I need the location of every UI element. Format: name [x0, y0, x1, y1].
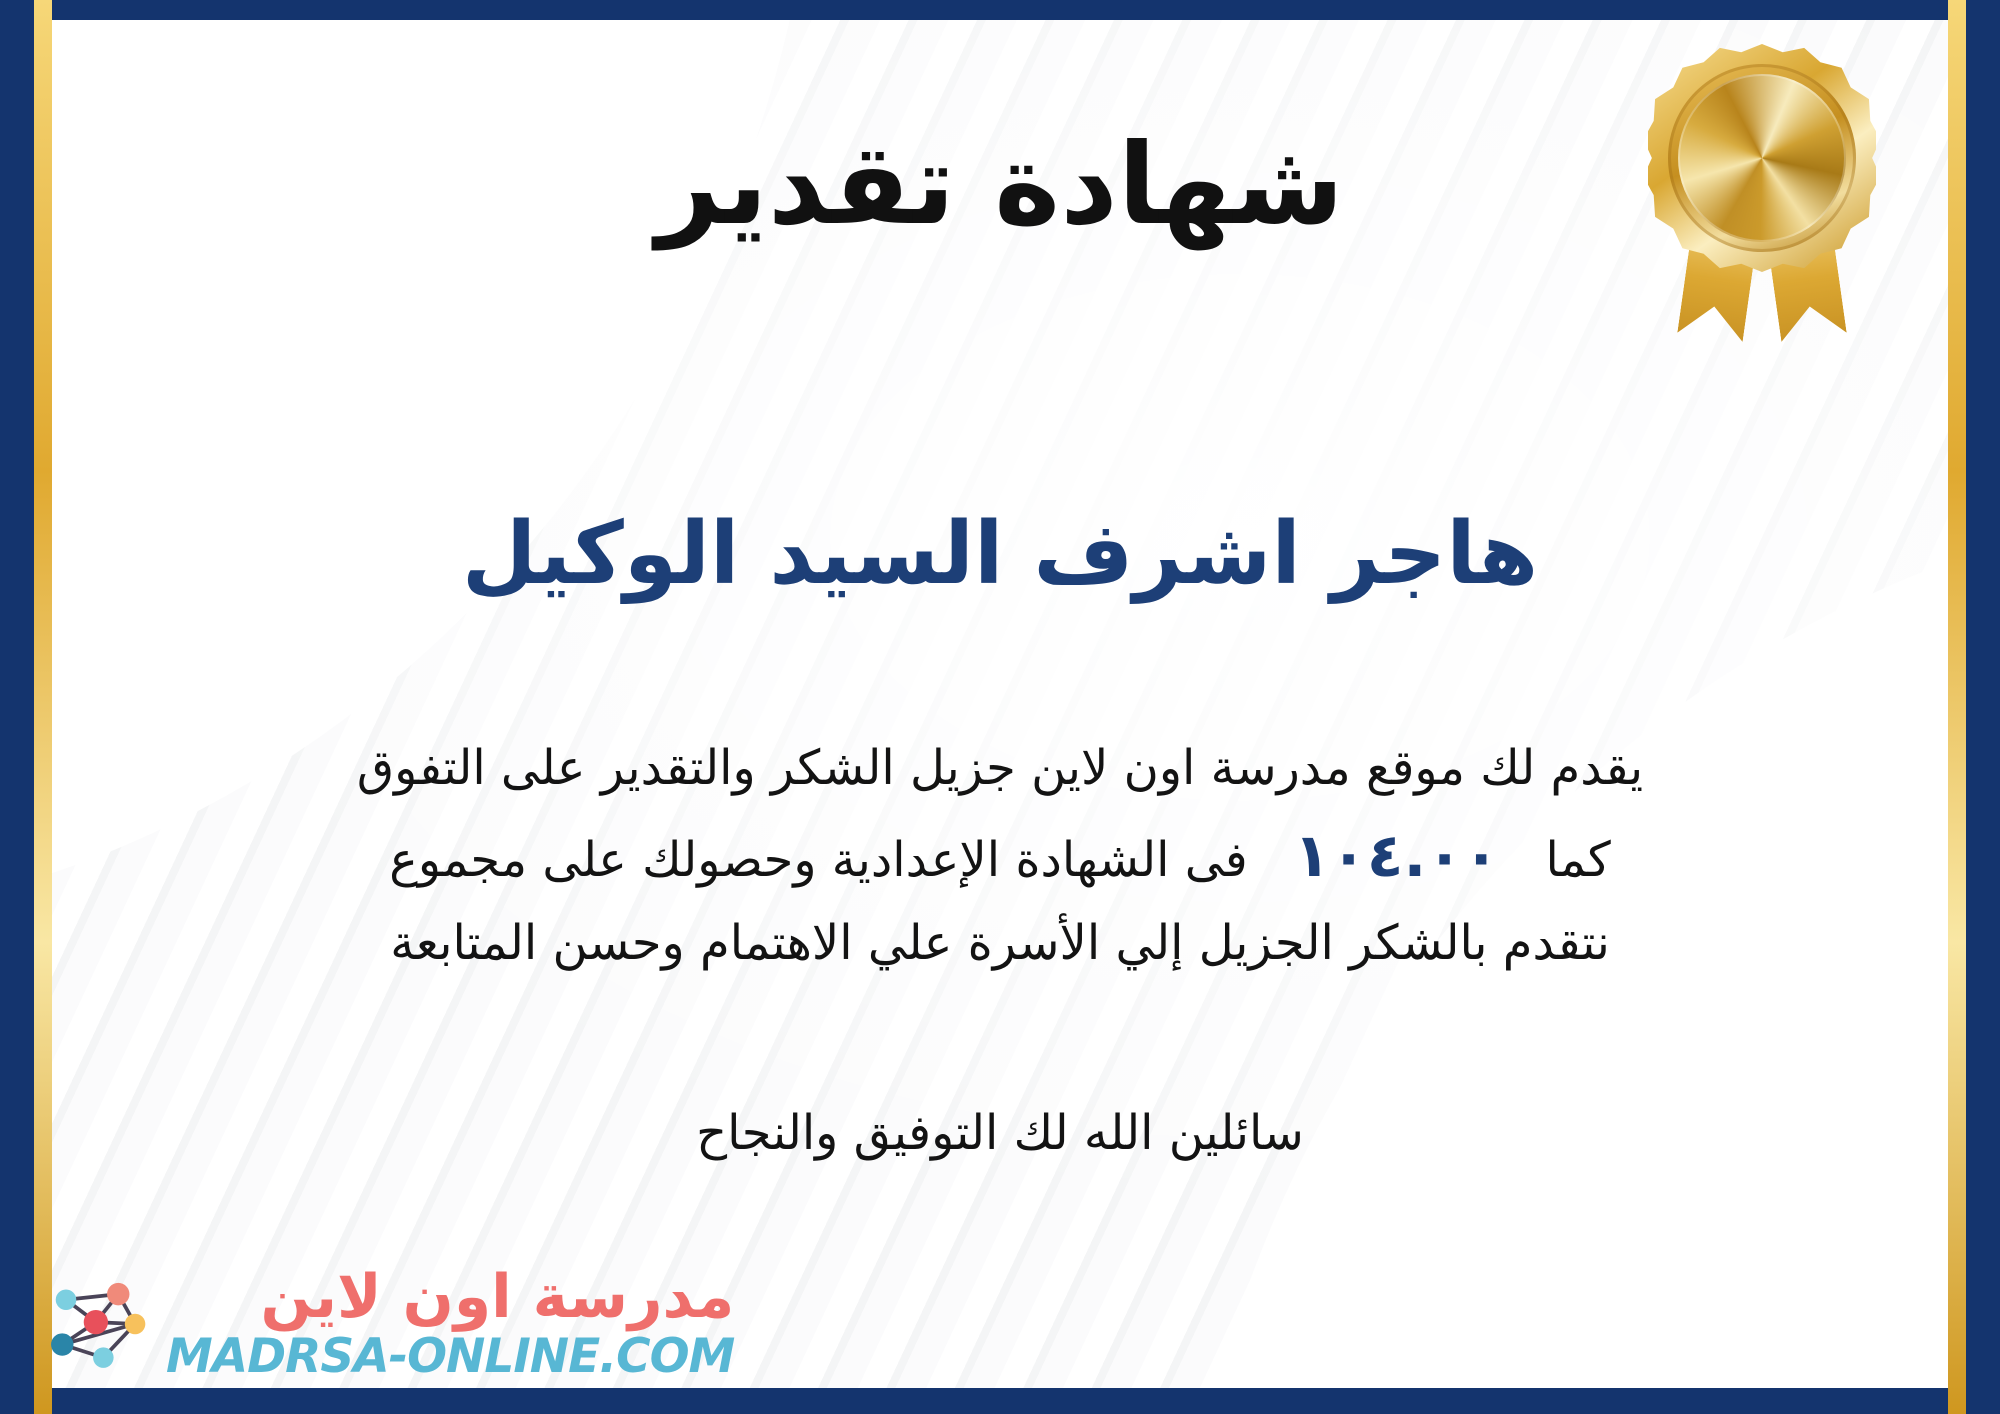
body-line-3: نتقدم بالشكر الجزيل إلي الأسرة علي الاهت…	[60, 905, 1940, 983]
body-line-2: كما١٠٤.٠٠فى الشهادة الإعدادية وحصولك على…	[60, 808, 1940, 905]
body-line-2-prefix: فى الشهادة الإعدادية وحصولك على مجموع	[389, 832, 1247, 888]
body-line-2-suffix: كما	[1546, 832, 1611, 888]
recipient-name: هاجر اشرف السيد الوكيل	[0, 505, 2000, 604]
brand-logo[interactable]: مدرسة اون لاين MADRSA-ONLINE.COM	[38, 1267, 734, 1380]
body-line-1: يقدم لك موقع مدرسة اون لاين جزيل الشكر و…	[60, 730, 1940, 808]
brand-arabic-name: مدرسة اون لاين	[261, 1267, 735, 1327]
certificate-title: شهادة تقدير	[0, 124, 2000, 247]
certificate-page: شهادة تقدير هاجر اشرف السيد الوكيل يقدم …	[0, 0, 2000, 1414]
network-nodes-logo-icon	[38, 1268, 150, 1380]
brand-website: MADRSA-ONLINE.COM	[166, 1333, 734, 1380]
closing-line: سائلين الله لك التوفيق والنجاح	[0, 1105, 2000, 1161]
score-value: ١٠٤.٠٠	[1248, 821, 1546, 891]
certificate-body-text: يقدم لك موقع مدرسة اون لاين جزيل الشكر و…	[60, 730, 1940, 983]
certificate-content: شهادة تقدير هاجر اشرف السيد الوكيل يقدم …	[0, 0, 2000, 1414]
brand-logo-text: مدرسة اون لاين MADRSA-ONLINE.COM	[166, 1267, 734, 1380]
